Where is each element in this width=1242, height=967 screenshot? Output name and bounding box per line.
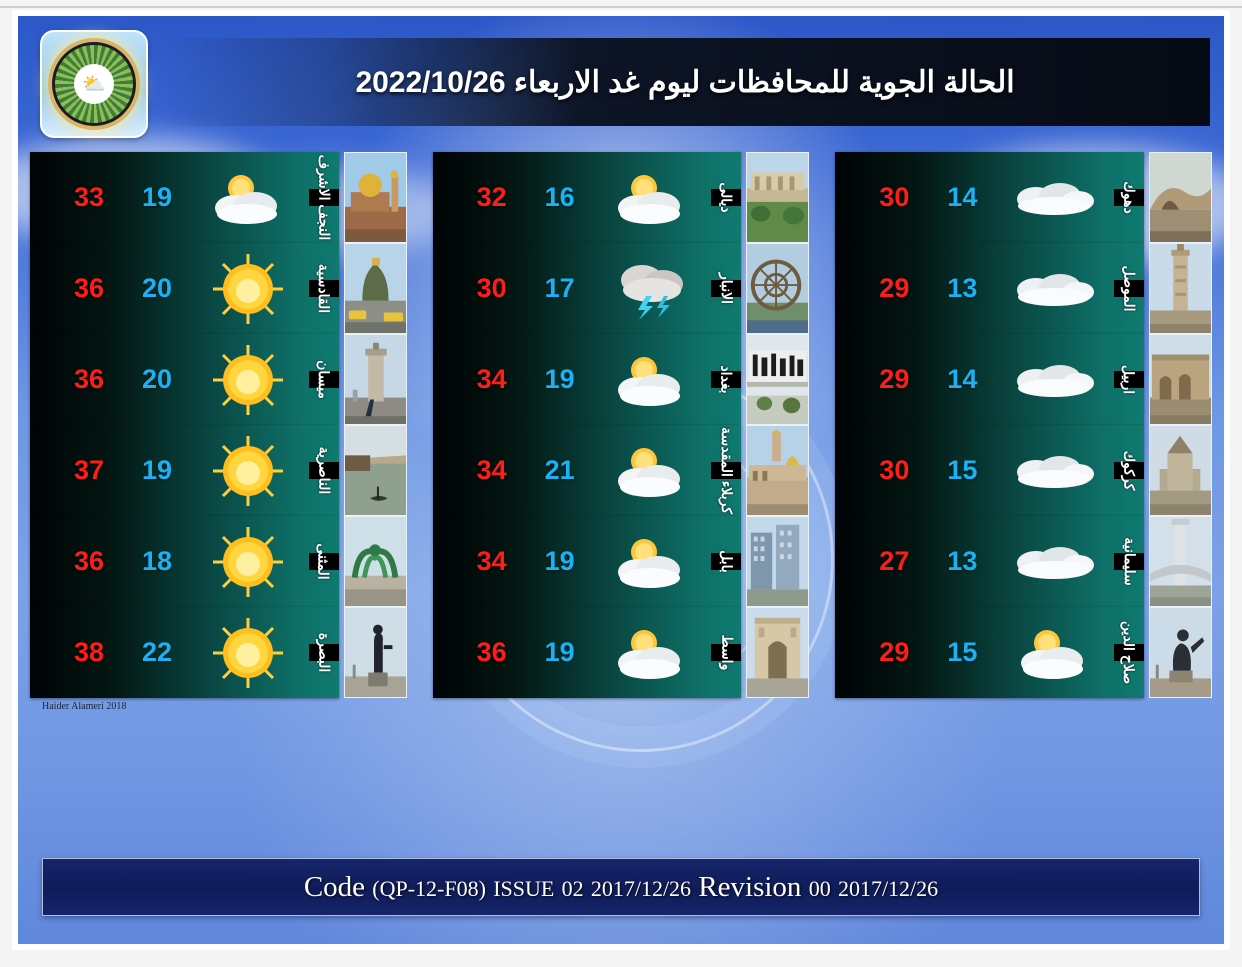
- temp-max: 37: [52, 455, 126, 486]
- governorate-name-strip: سليمانية: [1114, 553, 1144, 570]
- cloudy-icon: [993, 175, 1114, 221]
- partly-cloudy-icon: [591, 625, 712, 681]
- card-panel: 30 14 دهوك: [835, 152, 1144, 243]
- governorate-name-strip: ديالى: [711, 189, 741, 206]
- nasiriyah-river-photo: [344, 425, 407, 516]
- governorate-label: سليمانية: [1120, 537, 1137, 586]
- document-control-text: Code (QP-12-F08) ISSUE 02 2017/12/26 Rev…: [304, 871, 938, 904]
- governorate-label: ديالى: [718, 182, 735, 212]
- governorate-label: دهوك: [1120, 181, 1137, 213]
- governorate-name-strip: البصرة: [309, 644, 339, 661]
- forecast-column-south: 33 19 النجف الاشرف: [30, 152, 407, 698]
- card-panel: 36 20 القادسية: [30, 243, 339, 334]
- cloudy-icon: [993, 539, 1114, 585]
- card-panel: 34 19 بابل: [433, 516, 742, 607]
- card-panel: 32 16 ديالى: [433, 152, 742, 243]
- issue-value: 02: [562, 876, 584, 901]
- governorate-label: المثنى: [315, 543, 332, 579]
- governorate-label: واسط: [718, 635, 735, 671]
- revision-label: Revision: [698, 871, 801, 903]
- governorate-label: اربيل: [1120, 365, 1137, 394]
- temp-min: 16: [529, 182, 591, 213]
- card-panel: 34 19 بغداد: [433, 334, 742, 425]
- governorate-name-strip: بغداد: [711, 371, 741, 388]
- temp-max: 30: [455, 273, 529, 304]
- temp-min: 13: [931, 546, 993, 577]
- temp-min: 21: [529, 455, 591, 486]
- governorate-name-strip: النجف الاشرف: [309, 189, 339, 206]
- forecast-card[interactable]: 29 15 صلاح الدين: [835, 607, 1212, 698]
- organization-logo: ⛅: [40, 30, 148, 138]
- forecast-card[interactable]: 36 20 القادسية: [30, 243, 407, 334]
- card-panel: 36 18 المثنى: [30, 516, 339, 607]
- baghdad-freedom-monument-photo: [746, 334, 809, 425]
- issue-date: 2017/12/26: [591, 876, 691, 901]
- sunny-icon: [188, 343, 309, 417]
- diwaniyah-monument-photo: [344, 243, 407, 334]
- temp-max: 30: [857, 455, 931, 486]
- document-control-footer: Code (QP-12-F08) ISSUE 02 2017/12/26 Rev…: [42, 858, 1200, 916]
- temp-max: 34: [455, 455, 529, 486]
- partly-cloudy-icon: [591, 170, 712, 226]
- hillah-buildings-photo: [746, 516, 809, 607]
- temp-max: 32: [455, 182, 529, 213]
- partly-cloudy-icon: [188, 170, 309, 226]
- temp-min: 14: [931, 182, 993, 213]
- temp-max: 29: [857, 364, 931, 395]
- forecast-card[interactable]: 29 13 الموصل: [835, 243, 1212, 334]
- governorate-name-strip: بابل: [711, 553, 741, 570]
- temp-min: 17: [529, 273, 591, 304]
- forecast-card[interactable]: 30 15 كركوك: [835, 425, 1212, 516]
- temp-max: 34: [455, 546, 529, 577]
- temp-max: 36: [52, 364, 126, 395]
- forecast-card[interactable]: 36 18 المثنى: [30, 516, 407, 607]
- card-panel: 37 19 الناصرية: [30, 425, 339, 516]
- code-label: Code: [304, 871, 365, 903]
- page-title: الحالة الجوية للمحافظات ليوم غد الاربعاء…: [355, 65, 1014, 100]
- governorate-name-strip: اربيل: [1114, 371, 1144, 388]
- revision-value: 00: [809, 876, 831, 901]
- temp-min: 19: [529, 546, 591, 577]
- card-panel: 34 21 كربلاء المقدسة: [433, 425, 742, 516]
- temp-max: 30: [857, 182, 931, 213]
- weather-authority-seal-icon: ⛅: [52, 42, 136, 126]
- governorate-name-strip: الانبار: [711, 280, 741, 297]
- governorate-name-strip: الموصل: [1114, 280, 1144, 297]
- governorate-label: النجف الاشرف: [315, 155, 332, 241]
- kirkuk-tomb-photo: [1149, 425, 1212, 516]
- governorate-name-strip: ميسان: [309, 371, 339, 388]
- temp-max: 36: [455, 637, 529, 668]
- forecast-column-central: 32 16 ديالى 30: [433, 152, 810, 698]
- forecast-card[interactable]: 34 21 كربلاء المقدسة: [433, 425, 810, 516]
- erbil-citadel-photo: [1149, 334, 1212, 425]
- governorate-label: القادسية: [315, 264, 332, 313]
- governorate-label: البصرة: [315, 633, 332, 673]
- temp-min: 14: [931, 364, 993, 395]
- poster-header: ⛅ الحالة الجوية للمحافظات ليوم غد الاربع…: [32, 28, 1210, 138]
- governorate-label: الموصل: [1120, 266, 1137, 312]
- partly-cloudy-icon: [591, 352, 712, 408]
- forecast-card[interactable]: 29 14 اربيل: [835, 334, 1212, 425]
- baquba-park-photo: [746, 152, 809, 243]
- forecast-card[interactable]: 38 22 البصرة: [30, 607, 407, 698]
- forecast-card[interactable]: 37 19 الناصرية: [30, 425, 407, 516]
- forecast-card[interactable]: 34 19 بغداد: [433, 334, 810, 425]
- governorate-label: بابل: [718, 550, 735, 573]
- anbar-waterwheel-photo: [746, 243, 809, 334]
- temp-min: 19: [126, 182, 188, 213]
- cloudy-icon: [993, 448, 1114, 494]
- card-panel: 38 22 البصرة: [30, 607, 339, 698]
- samawah-arch-photo: [344, 516, 407, 607]
- forecast-card[interactable]: 30 14 دهوك: [835, 152, 1212, 243]
- thunderstorm-icon: [591, 258, 712, 320]
- page-root: ⛅ الحالة الجوية للمحافظات ليوم غد الاربع…: [0, 0, 1242, 967]
- sulaymaniyah-gate-photo: [1149, 516, 1212, 607]
- temp-min: 18: [126, 546, 188, 577]
- forecast-grid: 33 19 النجف الاشرف: [30, 152, 1212, 698]
- governorate-label: ميسان: [315, 360, 332, 399]
- card-panel: 30 17 الانبار: [433, 243, 742, 334]
- mosul-minaret-photo: [1149, 243, 1212, 334]
- temp-min: 20: [126, 273, 188, 304]
- governorate-label: كربلاء المقدسة: [718, 427, 735, 514]
- partly-cloudy-icon: [591, 443, 712, 499]
- temp-max: 29: [857, 637, 931, 668]
- forecast-card[interactable]: 36 20 ميسان: [30, 334, 407, 425]
- temp-min: 19: [126, 455, 188, 486]
- top-rule: [0, 6, 1242, 8]
- governorate-name-strip: كركوك: [1114, 462, 1144, 479]
- temp-min: 22: [126, 637, 188, 668]
- card-panel: 30 15 كركوك: [835, 425, 1144, 516]
- card-panel: 29 15 صلاح الدين: [835, 607, 1144, 698]
- forecast-card[interactable]: 30 17 الانبار: [433, 243, 810, 334]
- temp-max: 36: [52, 546, 126, 577]
- basra-statue-photo: [344, 607, 407, 698]
- forecast-card[interactable]: 34 19 بابل: [433, 516, 810, 607]
- temp-max: 38: [52, 637, 126, 668]
- temp-min: 13: [931, 273, 993, 304]
- card-panel: 29 13 الموصل: [835, 243, 1144, 334]
- temp-min: 15: [931, 455, 993, 486]
- cloudy-icon: [993, 357, 1114, 403]
- cloudy-icon: [993, 266, 1114, 312]
- sunny-icon: [188, 616, 309, 690]
- governorate-label: بغداد: [718, 365, 735, 393]
- governorate-name-strip: المثنى: [309, 553, 339, 570]
- partly-cloudy-icon: [993, 625, 1114, 681]
- revision-date: 2017/12/26: [838, 876, 938, 901]
- weather-poster: ⛅ الحالة الجوية للمحافظات ليوم غد الاربع…: [12, 10, 1230, 950]
- karbala-shrine-photo: [746, 425, 809, 516]
- governorate-label: الانبار: [718, 273, 735, 304]
- forecast-card[interactable]: 36 19 واسط: [433, 607, 810, 698]
- card-panel: 36 20 ميسان: [30, 334, 339, 425]
- forecast-column-north: 30 14 دهوك 29: [835, 152, 1212, 698]
- governorate-label: الناصرية: [315, 447, 332, 495]
- sun-cloud-glyph: ⛅: [74, 64, 114, 104]
- title-bar: الحالة الجوية للمحافظات ليوم غد الاربعاء…: [160, 38, 1210, 126]
- sunny-icon: [188, 252, 309, 326]
- sunny-icon: [188, 434, 309, 508]
- tikrit-statue-photo: [1149, 607, 1212, 698]
- card-panel: 33 19 النجف الاشرف: [30, 152, 339, 243]
- governorate-label: صلاح الدين: [1120, 621, 1137, 684]
- dohuk-bridge-photo: [1149, 152, 1212, 243]
- sunny-icon: [188, 525, 309, 599]
- forecast-card[interactable]: 33 19 النجف الاشرف: [30, 152, 407, 243]
- governorate-label: كركوك: [1120, 451, 1137, 491]
- issue-label: ISSUE: [493, 876, 554, 901]
- governorate-name-strip: القادسية: [309, 280, 339, 297]
- temp-max: 36: [52, 273, 126, 304]
- temp-min: 20: [126, 364, 188, 395]
- card-panel: 36 19 واسط: [433, 607, 742, 698]
- forecast-card[interactable]: 27 13 سليمانية: [835, 516, 1212, 607]
- author-credit: Haider Alameri 2018: [42, 701, 1224, 712]
- temp-max: 34: [455, 364, 529, 395]
- governorate-name-strip: كربلاء المقدسة: [711, 462, 741, 479]
- card-panel: 29 14 اربيل: [835, 334, 1144, 425]
- governorate-name-strip: دهوك: [1114, 189, 1144, 206]
- partly-cloudy-icon: [591, 534, 712, 590]
- code-value: (QP-12-F08): [372, 876, 486, 901]
- forecast-card[interactable]: 32 16 ديالى: [433, 152, 810, 243]
- governorate-name-strip: صلاح الدين: [1114, 644, 1144, 661]
- card-panel: 27 13 سليمانية: [835, 516, 1144, 607]
- governorate-name-strip: واسط: [711, 644, 741, 661]
- temp-max: 27: [857, 546, 931, 577]
- temp-min: 15: [931, 637, 993, 668]
- temp-max: 33: [52, 182, 126, 213]
- temp-min: 19: [529, 364, 591, 395]
- governorate-name-strip: الناصرية: [309, 462, 339, 479]
- kut-arch-photo: [746, 607, 809, 698]
- najaf-shrine-photo: [344, 152, 407, 243]
- temp-min: 19: [529, 637, 591, 668]
- temp-max: 29: [857, 273, 931, 304]
- amarah-tower-photo: [344, 334, 407, 425]
